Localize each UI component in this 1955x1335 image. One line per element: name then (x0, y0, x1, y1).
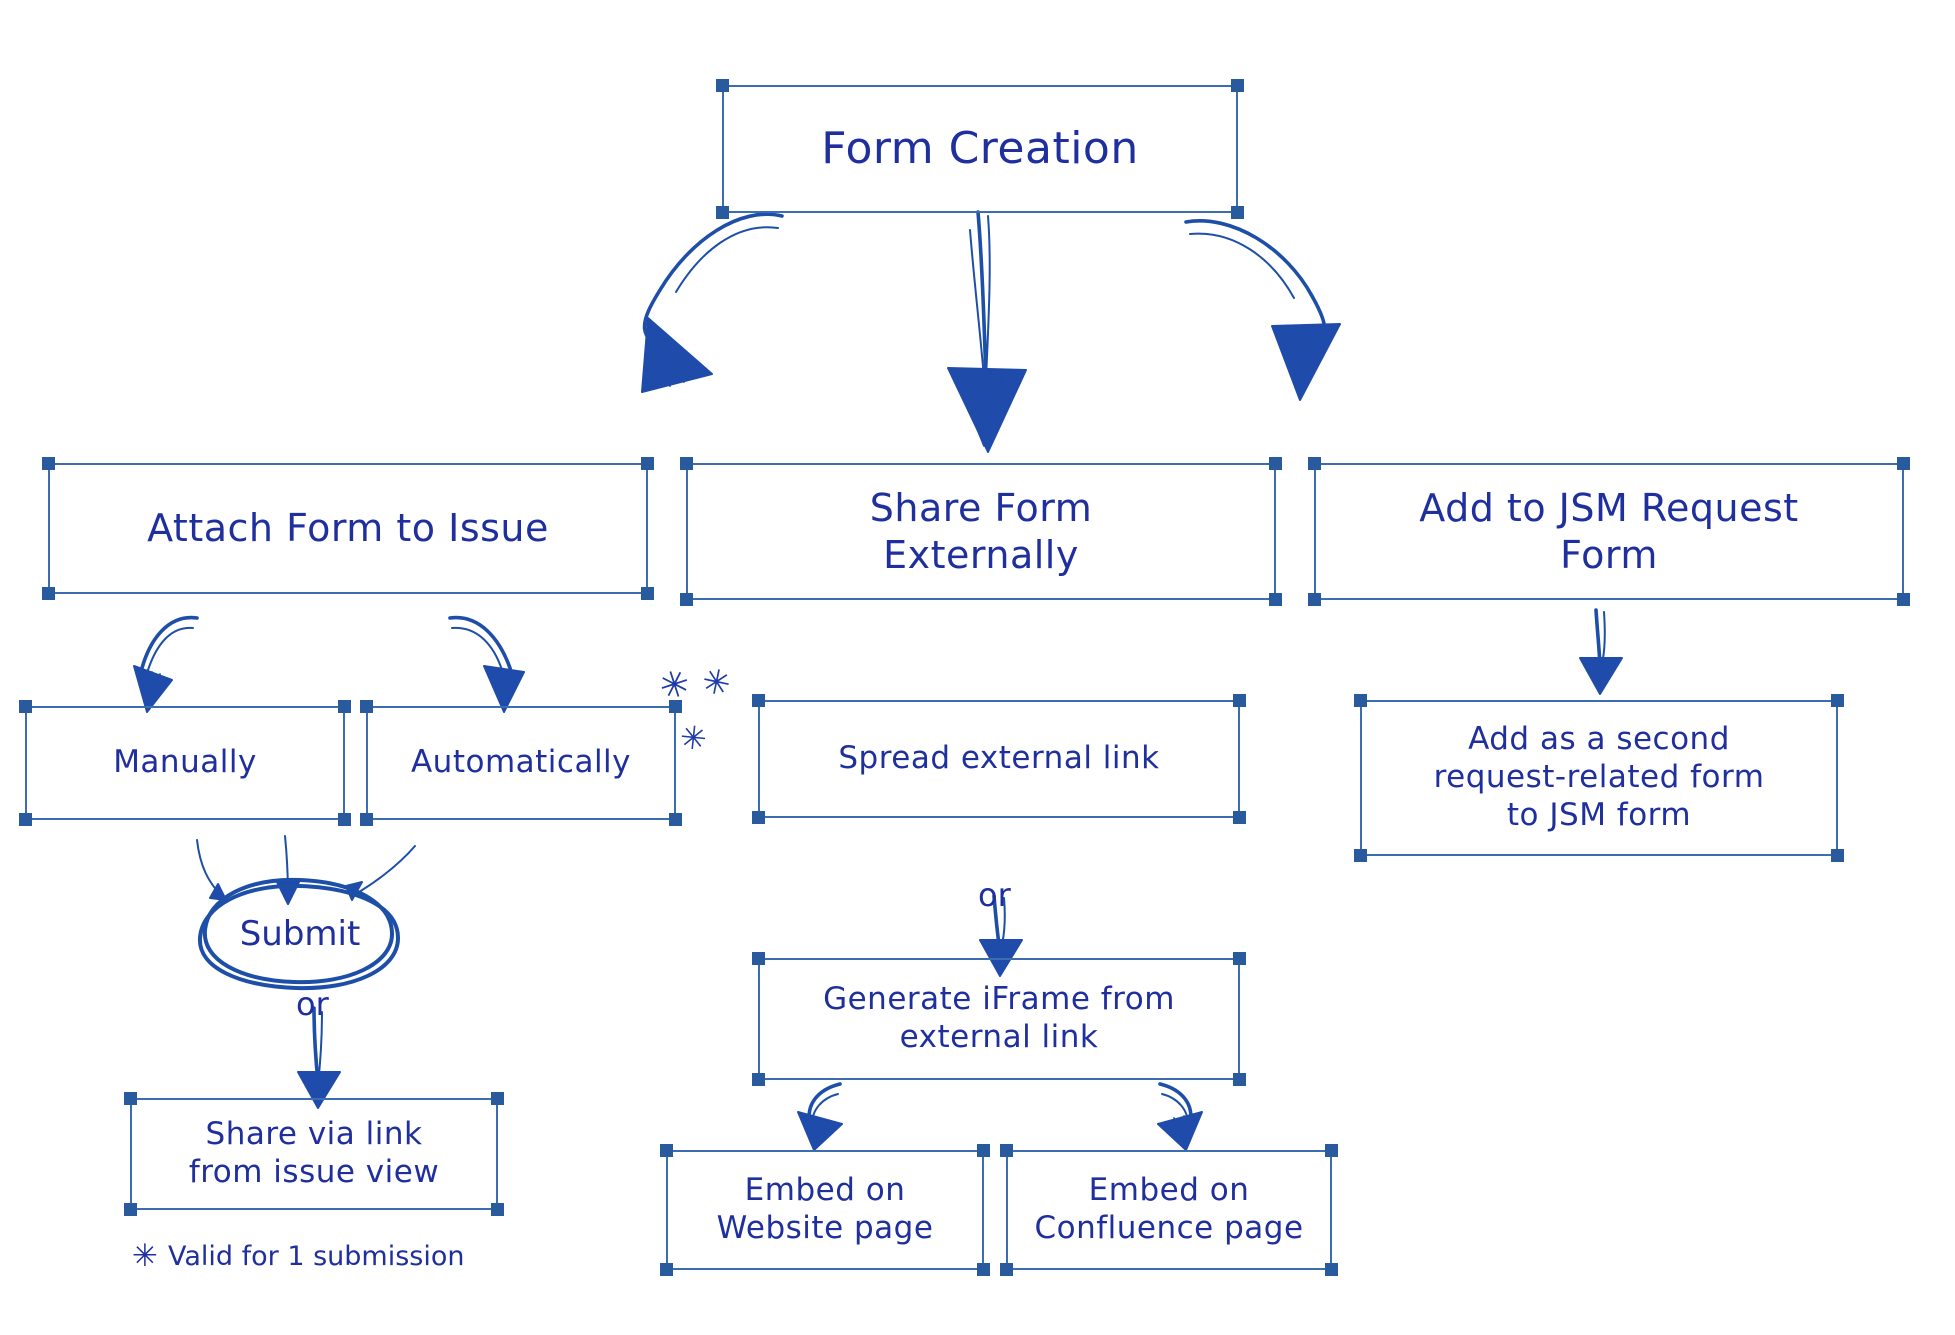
arrow-formcreation-to-jsm (1186, 221, 1340, 400)
node-automatically-label: Automatically (368, 744, 674, 782)
arrow-iframe-to-confluence (1158, 1084, 1202, 1150)
node-form-creation-label: Form Creation (724, 122, 1236, 176)
node-spread-external-link[interactable]: Spread external link (758, 700, 1240, 818)
arrow-iframe-to-website (798, 1084, 842, 1150)
node-share-via-link[interactable]: Share via link from issue view (130, 1098, 498, 1210)
node-embed-confluence[interactable]: Embed on Confluence page (1006, 1150, 1332, 1270)
node-add-second-form[interactable]: Add as a second request-related form to … (1360, 700, 1838, 856)
node-share-form-externally[interactable]: Share Form Externally (686, 463, 1276, 600)
arrow-formcreation-to-attach (642, 214, 782, 392)
node-embed-website[interactable]: Embed on Website page (666, 1150, 984, 1270)
connector-label-or-left: or (296, 985, 329, 1023)
footnote: ✳ Valid for 1 submission (132, 1238, 464, 1274)
node-add-to-jsm-request-form-label: Add to JSM Request Form (1316, 485, 1902, 578)
node-attach-form-to-issue[interactable]: Attach Form to Issue (48, 463, 648, 594)
node-attach-form-to-issue-label: Attach Form to Issue (50, 505, 646, 551)
node-submit-label: Submit (240, 917, 361, 951)
asterisk-mark-2: ✳ (699, 663, 734, 702)
arrow-submit-to-sharelink (298, 1008, 340, 1108)
node-embed-website-label: Embed on Website page (668, 1172, 982, 1248)
node-spread-external-link-label: Spread external link (760, 740, 1238, 778)
node-embed-confluence-label: Embed on Confluence page (1008, 1172, 1330, 1248)
arrow-attach-to-manually (134, 618, 197, 712)
connector-label-or-middle: or (978, 876, 1011, 914)
node-generate-iframe[interactable]: Generate iFrame from external link (758, 958, 1240, 1080)
node-generate-iframe-label: Generate iFrame from external link (760, 981, 1238, 1057)
node-automatically[interactable]: Automatically (366, 706, 676, 820)
node-form-creation[interactable]: Form Creation (722, 85, 1238, 213)
node-add-second-form-label: Add as a second request-related form to … (1362, 721, 1836, 834)
node-share-via-link-label: Share via link from issue view (132, 1116, 496, 1192)
node-manually[interactable]: Manually (25, 706, 345, 820)
footnote-asterisk-icon: ✳ (132, 1238, 158, 1274)
node-add-to-jsm-request-form[interactable]: Add to JSM Request Form (1314, 463, 1904, 600)
arrow-formcreation-to-share (948, 212, 1026, 452)
arrow-jsm-to-secondform (1580, 610, 1622, 694)
node-submit[interactable]: Submit (200, 878, 400, 990)
asterisk-mark-3: ✳ (678, 721, 708, 756)
diagram-canvas: .stroke-thin { fill:none; stroke:#1e4fa8… (0, 0, 1955, 1335)
asterisk-mark-1: ✳ (655, 664, 695, 708)
arrow-attach-to-automatically (450, 618, 524, 712)
footnote-text: Valid for 1 submission (168, 1241, 465, 1272)
node-share-form-externally-label: Share Form Externally (688, 485, 1274, 578)
node-manually-label: Manually (27, 744, 343, 782)
